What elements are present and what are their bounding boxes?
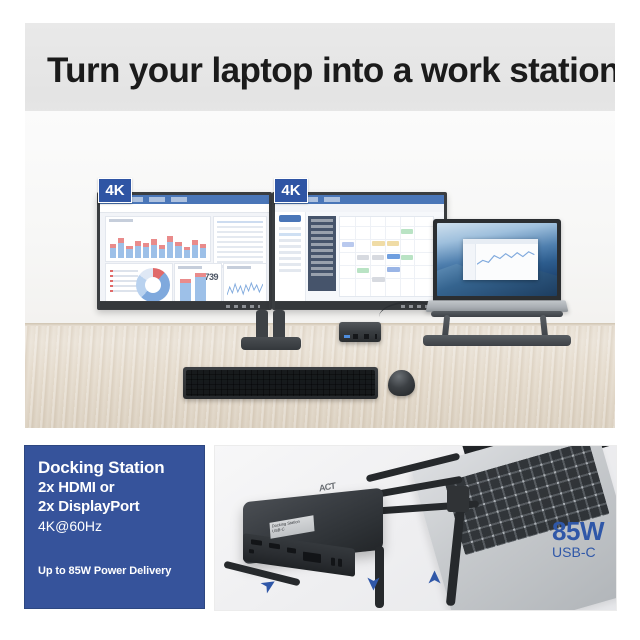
calendar-sidebar <box>275 212 306 301</box>
power-callout-connector: USB-C <box>552 544 604 561</box>
usb-c-connector-head <box>447 486 469 512</box>
kpi-bars <box>180 273 206 301</box>
compose-button[interactable] <box>279 215 301 222</box>
calendar-ui <box>275 195 444 301</box>
monitor-left: 5739 <box>97 192 272 310</box>
workstation-photo: 5739 <box>25 111 615 428</box>
laptop-chart-svg <box>477 247 534 270</box>
desk-front-edge <box>25 323 615 326</box>
arrow-power-up: ➤ <box>425 570 444 586</box>
keyboard <box>183 367 378 399</box>
power-callout-watts: 85W <box>552 518 604 544</box>
kpi-card-title <box>178 266 202 269</box>
act-brand-logo: ACT <box>319 481 336 494</box>
stand-base <box>241 337 301 350</box>
bar-series <box>110 232 206 258</box>
calendar-grid <box>339 216 434 297</box>
dashboard-tab <box>149 197 165 202</box>
product-photo: ACT Docking StationUSB-C ➤ ➤ ➤ 85W USB-C <box>214 445 617 611</box>
bar-chart-card <box>105 216 211 262</box>
port-usb-a-1 <box>251 539 262 546</box>
sparkline-card <box>223 263 267 301</box>
donut-legend <box>110 270 138 295</box>
port-usb-a-2 <box>269 543 280 550</box>
monitor-right <box>272 192 447 310</box>
dashboard-subbar <box>100 204 269 213</box>
spec-line-resolution: 4K@60Hz <box>38 516 195 537</box>
hub-ports <box>353 334 377 339</box>
calendar-tab <box>324 197 340 202</box>
keyboard-keys <box>186 370 375 396</box>
port-sd-slot <box>303 552 321 564</box>
calendar-dark-list <box>308 216 336 291</box>
arrow-power-down: ➤ <box>363 576 382 592</box>
stand-column-right <box>273 310 285 340</box>
spec-line-hdmi: 2x HDMI or <box>38 478 195 497</box>
port-audio <box>249 549 254 554</box>
laptop-screen <box>437 223 557 296</box>
hub-power-led <box>344 335 350 338</box>
laptop-chart-window <box>463 239 537 280</box>
port-indicator-2 <box>338 558 342 567</box>
power-callout: 85W USB-C <box>552 518 604 561</box>
monitor-left-screen: 5739 <box>100 195 269 301</box>
laptop-window-sidebar <box>463 244 476 280</box>
list-card <box>213 216 267 266</box>
spec-panel: Docking Station 2x HDMI or 2x DisplayPor… <box>24 445 205 609</box>
page-title: Turn your laptop into a work station <box>47 45 603 97</box>
port-indicator-1 <box>331 557 335 566</box>
stand-column-left <box>256 310 268 340</box>
spec-line-displayport: 2x DisplayPort <box>38 497 195 516</box>
mouse <box>388 370 415 396</box>
kpi-card: 5739 <box>174 263 222 301</box>
sparkline-svg <box>227 277 263 301</box>
dashboard-ui: 5739 <box>100 195 269 301</box>
port-usb-c-1 <box>287 547 296 553</box>
laptop-lid <box>433 219 561 302</box>
sparkline-card-title <box>227 266 251 269</box>
marketing-image-canvas: Turn your laptop into a work station <box>0 0 640 640</box>
spec-panel-text: Docking Station 2x HDMI or 2x DisplayPor… <box>38 457 195 537</box>
riser-base <box>423 335 571 346</box>
hero-panel: Turn your laptop into a work station <box>25 23 615 428</box>
sparkline-chart <box>227 277 263 301</box>
badge-4k-left: 4K <box>98 178 132 203</box>
donut-chart-card <box>105 263 173 301</box>
spec-title: Docking Station <box>38 457 195 478</box>
spec-footnote-power: Up to 85W Power Delivery <box>38 565 171 577</box>
card-title-placeholder <box>109 219 133 222</box>
monitor-right-screen <box>275 195 444 301</box>
dashboard-tab <box>171 197 187 202</box>
donut-chart <box>136 268 170 301</box>
monitor-left-controls <box>226 305 260 308</box>
calendar-main-pane <box>306 212 444 301</box>
docking-station-hub <box>339 322 381 342</box>
badge-4k-right: 4K <box>274 178 308 203</box>
